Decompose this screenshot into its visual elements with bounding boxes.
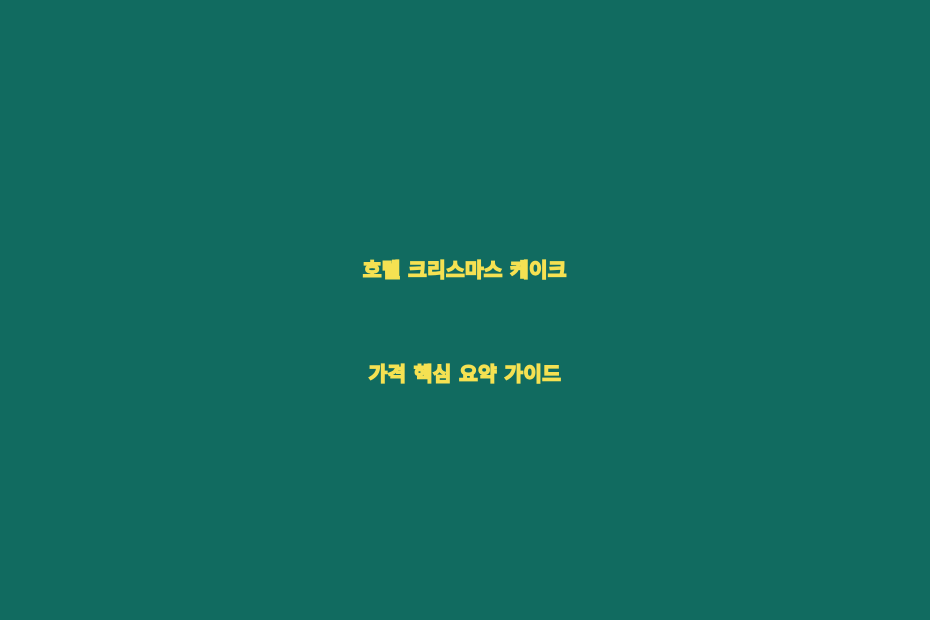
headline-line-2: 가격 핵심 요약 가이드 <box>24 322 906 426</box>
headline-line-1: 호텔 크리스마스 케이크 <box>24 218 906 322</box>
headline-block: 호텔 크리스마스 케이크 가격 핵심 요약 가이드 <box>0 218 930 426</box>
thumbnail-canvas: 호텔 크리스마스 케이크 가격 핵심 요약 가이드 <box>0 0 930 620</box>
